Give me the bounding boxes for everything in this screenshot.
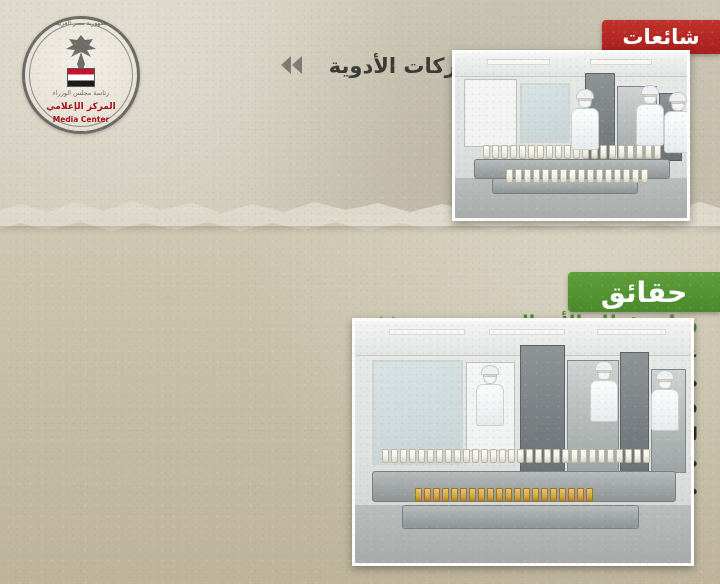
- fact-photo: [352, 318, 694, 566]
- logo-line-top: جمهورية مصر العربية: [22, 20, 140, 27]
- worker-figure: [651, 374, 679, 431]
- rumor-photo: [452, 50, 690, 221]
- worker-figure: [571, 93, 599, 150]
- fact-photo-scene: [355, 321, 691, 563]
- fact-tab-label: حقائق: [601, 276, 688, 309]
- worker-figure: [664, 96, 687, 153]
- worker-figure: [590, 365, 618, 422]
- logo-line-bottom: المركز الإعلامي: [22, 102, 140, 112]
- rumor-photo-scene: [455, 53, 687, 218]
- logo-line-bottom-secondary: Media Center: [22, 115, 140, 124]
- logo-line-mid: رئاسة مجلس الوزراء: [22, 89, 140, 97]
- rumor-tab: شائعات: [602, 20, 720, 54]
- worker-figure: [476, 369, 504, 426]
- worker-figure: [636, 89, 664, 146]
- fact-tab: حقائق: [568, 272, 720, 312]
- rumor-tab-label: شائعات: [622, 25, 699, 49]
- torn-paper-shadow: [0, 226, 720, 234]
- egypt-flag-icon: [67, 68, 95, 87]
- egypt-cabinet-media-center-logo: جمهورية مصر العربية رئاسة مجلس الوزراء ا…: [22, 16, 140, 134]
- double-chevron-icon: [281, 56, 302, 74]
- infographic-canvas: جمهورية مصر العربية رئاسة مجلس الوزراء ا…: [0, 0, 720, 584]
